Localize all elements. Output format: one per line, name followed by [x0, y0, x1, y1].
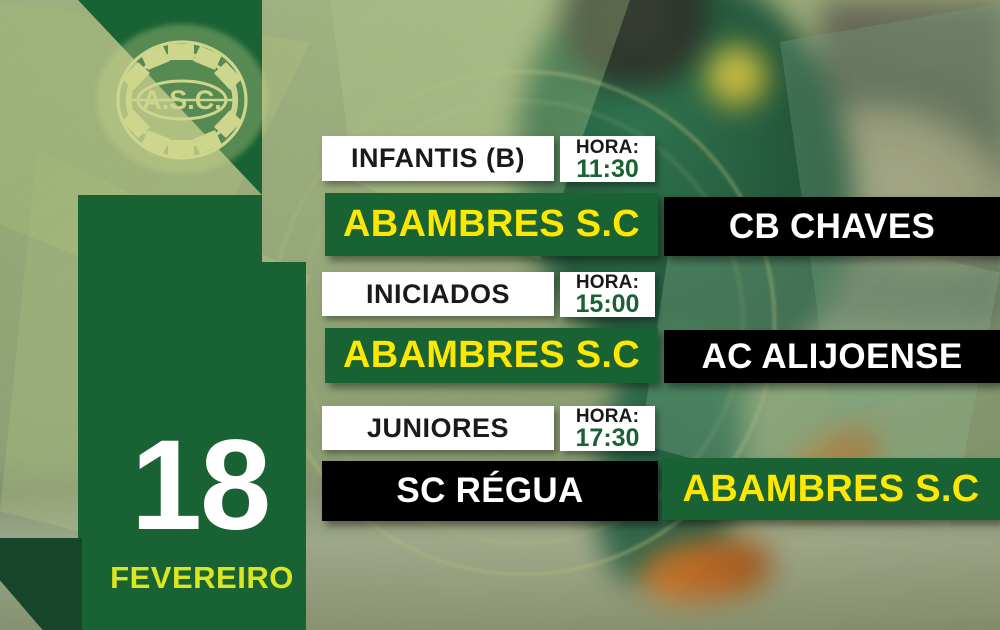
club-logo: A.S.C. [96, 14, 268, 186]
match-category-label-2: INICIADOS [366, 279, 510, 310]
match-category-label-1: INFANTIS (B) [351, 143, 525, 174]
match-time-box-1: HORA: 11:30 [560, 136, 655, 182]
match-away-team-box-2: AC ALIJOENSE [664, 330, 1000, 383]
date-month: FEVEREIRO [100, 562, 304, 593]
match-home-team-name-2: ABAMBRES S.C [343, 334, 640, 377]
match-away-team-name-2: AC ALIJOENSE [702, 337, 963, 377]
match-time-value-2: 15:00 [576, 292, 640, 317]
club-logo-text: A.S.C. [142, 85, 222, 115]
match-time-box-2: HORA: 15:00 [560, 272, 655, 317]
match-home-team-box-2: ABAMBRES S.C [325, 328, 658, 383]
match-time-value-1: 11:30 [576, 157, 639, 182]
background-player-arm [770, 72, 1000, 297]
match-home-team-name-1: ABAMBRES S.C [343, 203, 640, 246]
match-away-team-box-3: ABAMBRES S.C [662, 458, 1000, 520]
match-home-team-name-3: SC RÉGUA [396, 471, 583, 511]
match-time-value-3: 17:30 [576, 426, 640, 451]
club-crest-ball-icon: A.S.C. [96, 14, 268, 186]
left-panel-corner-accent [0, 538, 82, 630]
match-category-box-2: INICIADOS [322, 272, 554, 316]
background-wall [820, 0, 1000, 330]
match-category-box-1: INFANTIS (B) [322, 136, 554, 181]
match-category-label-3: JUNIORES [367, 413, 509, 444]
match-category-box-3: JUNIORES [322, 406, 554, 450]
background-boot-left [636, 531, 773, 609]
match-away-team-name-1: CB CHAVES [729, 207, 935, 247]
match-home-team-box-1: ABAMBRES S.C [325, 193, 658, 256]
date-day: 18 [100, 422, 300, 550]
match-away-team-box-1: CB CHAVES [664, 197, 1000, 256]
match-home-team-box-3: SC RÉGUA [322, 461, 658, 521]
background-ball [706, 46, 768, 108]
match-away-team-name-3: ABAMBRES S.C [682, 468, 979, 511]
match-time-box-3: HORA: 17:30 [560, 406, 655, 451]
match-time-caption-1: HORA: [576, 138, 639, 157]
match-day-poster: A.S.C. 18 FEVEREIRO INFANTIS (B) HORA: 1… [0, 0, 1000, 630]
